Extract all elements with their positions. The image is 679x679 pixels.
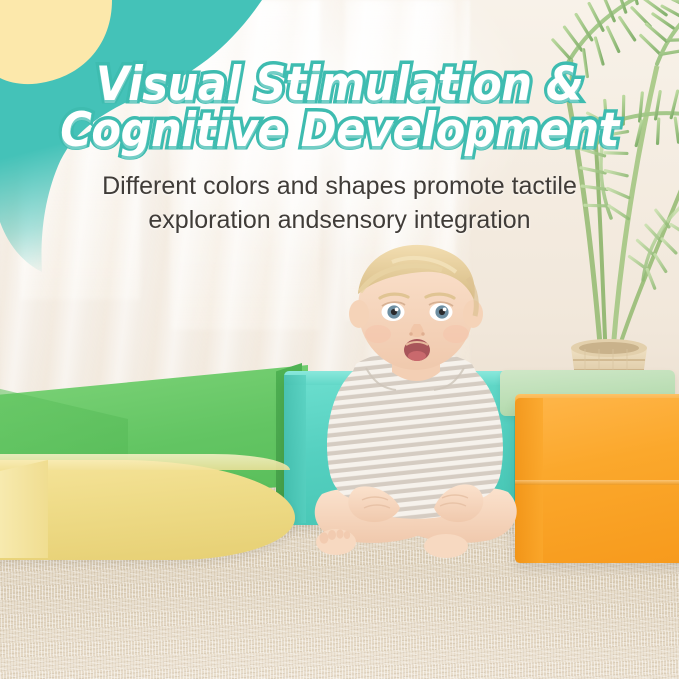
page-subtitle: Different colors and shapes promote tact… xyxy=(0,169,679,237)
subtitle-line-2: exploration andsensory integration xyxy=(0,203,679,237)
header-text-block: Visual Stimulation & Cognitive Developme… xyxy=(0,0,679,237)
page-title: Visual Stimulation & Cognitive Developme… xyxy=(27,62,652,153)
baby-subject xyxy=(296,242,534,572)
promotional-banner: Visual Stimulation & Cognitive Developme… xyxy=(0,0,679,679)
title-line-2: Cognitive Development xyxy=(27,108,652,154)
title-line-1: Visual Stimulation & xyxy=(27,62,652,108)
subtitle-line-1: Different colors and shapes promote tact… xyxy=(0,169,679,203)
orange-foam-block-seam xyxy=(515,480,679,485)
yellow-foam-mat-side xyxy=(0,460,48,558)
